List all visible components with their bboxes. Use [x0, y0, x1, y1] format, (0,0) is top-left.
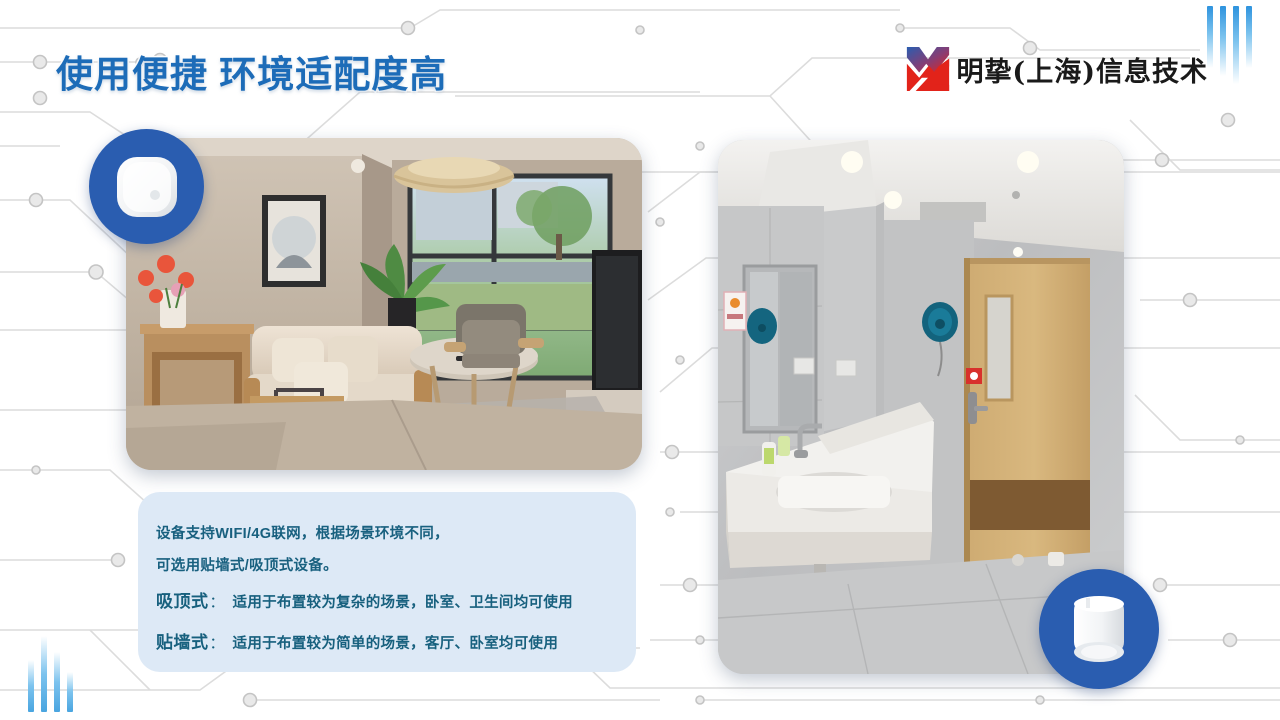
decor-bar — [1233, 6, 1239, 84]
wall-mounted-device-badge — [89, 129, 204, 244]
ceiling-sensor-icon — [1062, 590, 1136, 668]
decor-bars-top-right — [1207, 6, 1252, 101]
caption-item-colon: ： — [209, 624, 233, 664]
ceiling-mounted-device-badge — [1039, 569, 1159, 689]
decor-bar — [67, 672, 73, 712]
brand-name: 明挚(上海)信息技术 — [956, 50, 1208, 89]
decor-bar — [41, 636, 47, 712]
decor-bar — [1246, 6, 1252, 68]
decor-bar — [1220, 6, 1226, 76]
caption-item-value: 适用于布置较为复杂的场景，卧室、卫生间均可使用 — [233, 583, 573, 623]
caption-item-ceiling: 吸顶式 ： 适用于布置较为复杂的场景，卧室、卫生间均可使用 — [156, 582, 636, 623]
caption-item-wall: 贴墙式 ： 适用于布置较为简单的场景，客厅、卧室均可使用 — [156, 623, 636, 664]
decor-bar — [54, 652, 60, 712]
caption-intro-line-2: 可选用贴墙式/吸顶式设备。 — [156, 550, 636, 582]
mz-monogram-logo-icon — [906, 46, 950, 92]
caption-panel: 设备支持WIFI/4G联网，根据场景环境不同， 可选用贴墙式/吸顶式设备。 吸顶… — [138, 492, 636, 672]
slide-root: 使用便捷 环境适配度高 明挚(上海)信息技术 — [0, 0, 1280, 720]
slide-title: 使用便捷 环境适配度高 — [56, 44, 447, 98]
decor-bar — [28, 660, 34, 712]
brand-logo: 明挚(上海)信息技术 — [906, 46, 1208, 92]
caption-intro-line-1: 设备支持WIFI/4G联网，根据场景环境不同， — [156, 518, 636, 550]
caption-item-value: 适用于布置较为简单的场景，客厅、卧室均可使用 — [233, 624, 559, 664]
caption-item-key: 贴墙式 — [156, 623, 209, 663]
caption-item-key: 吸顶式 — [156, 582, 209, 622]
decor-bars-bottom-left — [28, 617, 73, 712]
wall-sensor-icon — [111, 151, 183, 223]
caption-item-colon: ： — [209, 583, 233, 623]
